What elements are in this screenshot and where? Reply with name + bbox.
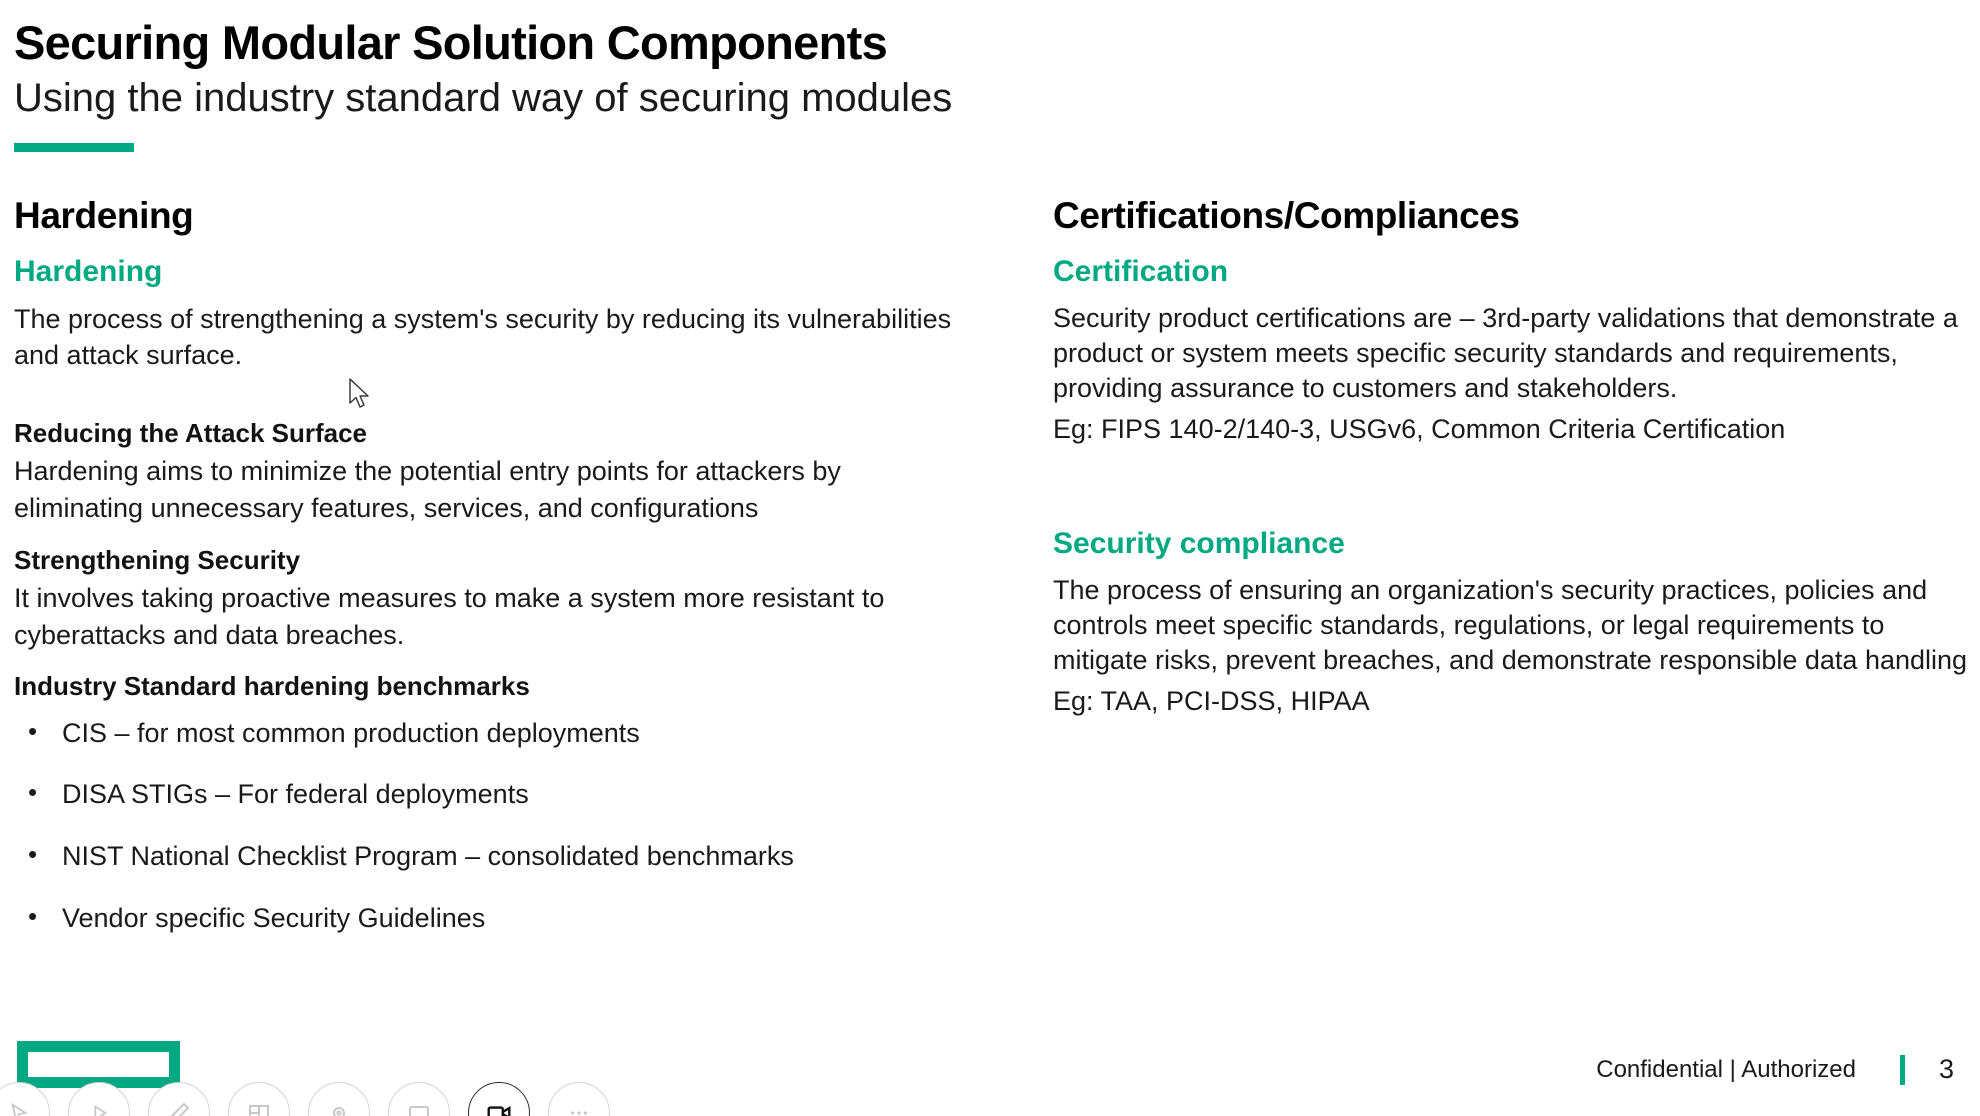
slide-canvas: Securing Modular Solution Components Usi…: [0, 0, 1980, 1116]
spacer: [1053, 448, 1968, 526]
laser-pointer-icon[interactable]: [308, 1082, 370, 1116]
content-columns: Hardening Hardening The process of stren…: [0, 196, 1980, 1016]
right-column: Certifications/Compliances Certification…: [1053, 196, 1968, 720]
left-column: Hardening Hardening The process of stren…: [14, 196, 974, 964]
list-item: NIST National Checklist Program – consol…: [14, 840, 974, 874]
subtitles-icon[interactable]: [388, 1082, 450, 1116]
classification-label: Confidential | Authorized: [1596, 1056, 1856, 1084]
accent-bar: [14, 143, 134, 152]
pen-icon[interactable]: [148, 1082, 210, 1116]
section-body-reducing-attack-surface: Hardening aims to minimize the potential…: [14, 453, 974, 526]
section-body-strengthening-security: It involves taking proactive measures to…: [14, 580, 974, 653]
certification-body-text: Security product certifications are – 3r…: [1053, 301, 1968, 406]
benchmarks-title: Industry Standard hardening benchmarks: [14, 671, 974, 702]
list-item: Vendor specific Security Guidelines: [14, 902, 974, 936]
pointer-arrow-icon[interactable]: [0, 1082, 50, 1116]
hardening-green-heading: Hardening: [14, 254, 974, 290]
page-number: 3: [1939, 1054, 1954, 1085]
hardening-intro-text: The process of strengthening a system's …: [14, 301, 974, 374]
benchmarks-list: CIS – for most common production deploym…: [14, 717, 974, 936]
certification-green-heading: Certification: [1053, 254, 1968, 290]
list-item: DISA STIGs – For federal deployments: [14, 778, 974, 812]
camera-video-icon[interactable]: [468, 1082, 530, 1116]
presenter-toolbar[interactable]: [0, 1082, 610, 1116]
security-compliance-green-heading: Security compliance: [1053, 526, 1968, 562]
list-item: CIS – for most common production deploym…: [14, 717, 974, 751]
security-compliance-body-text: The process of ensuring an organization'…: [1053, 573, 1968, 678]
slide-layout-icon[interactable]: [228, 1082, 290, 1116]
section-title-reducing-attack-surface: Reducing the Attack Surface: [14, 418, 974, 449]
left-column-heading: Hardening: [14, 196, 974, 237]
right-column-heading: Certifications/Compliances: [1053, 196, 1968, 237]
section-title-strengthening-security: Strengthening Security: [14, 545, 974, 576]
more-options-icon[interactable]: [548, 1082, 610, 1116]
hpe-logo: [17, 1041, 180, 1088]
page-subtitle: Using the industry standard way of secur…: [14, 76, 1940, 121]
play-icon[interactable]: [68, 1082, 130, 1116]
slide-header: Securing Modular Solution Components Usi…: [14, 18, 1940, 152]
page-title: Securing Modular Solution Components: [14, 18, 1940, 69]
footer-divider: [1900, 1055, 1905, 1085]
footer: Confidential | Authorized 3: [1596, 1054, 1954, 1085]
spacer: [14, 374, 974, 400]
security-compliance-example-text: Eg: TAA, PCI-DSS, HIPAA: [1053, 683, 1968, 720]
certification-example-text: Eg: FIPS 140-2/140-3, USGv6, Common Crit…: [1053, 411, 1968, 448]
